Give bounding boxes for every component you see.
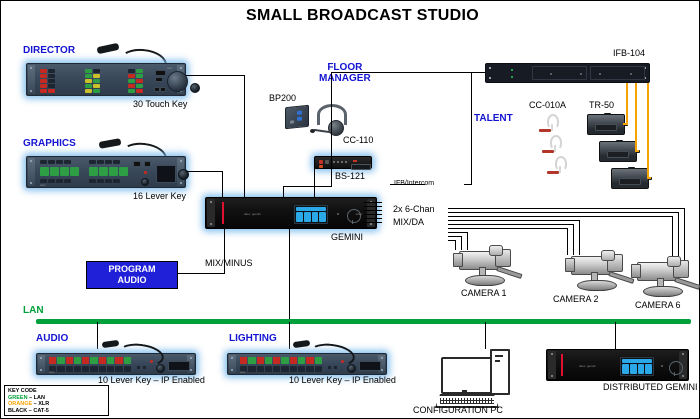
director-display	[155, 70, 166, 76]
page-title: SMALL BROADCAST STUDIO	[246, 7, 479, 25]
director-mic-head	[97, 43, 120, 54]
screw	[381, 357, 383, 359]
xlr-wire-tr50-2	[635, 83, 637, 151]
label-mix-da: MIX/DA	[393, 218, 424, 227]
wire-lan-to-lighting	[289, 322, 290, 349]
lan-bus	[36, 319, 691, 324]
key-code-desc-orange: – XLR	[34, 401, 50, 407]
pc-monitor	[441, 357, 493, 394]
label-bs121: BS-121	[335, 172, 365, 181]
screw	[682, 375, 684, 377]
key-code-color-green: GREEN	[8, 395, 28, 401]
gemini-port-stub	[364, 214, 382, 215]
label-gemini: GEMINI	[331, 233, 363, 242]
label-talent: TALENT	[474, 114, 513, 125]
screw	[551, 375, 553, 377]
lighting-key-display-strip	[240, 357, 322, 364]
key-code-row-orange: ORANGE – XLR	[8, 401, 105, 408]
lcd-titlebar	[622, 359, 652, 363]
label-director: DIRECTOR	[23, 46, 75, 57]
distributed-gemini-unit[interactable]: telex gemini	[546, 349, 689, 381]
ifb104-port	[599, 73, 601, 75]
wire-ifb-intercom-v2	[471, 72, 472, 185]
key-code-color-orange: ORANGE	[8, 401, 32, 407]
key-code-row-black: BLACK – CAT-5	[8, 408, 105, 415]
camera-trunk-1	[448, 208, 684, 209]
brand-mark: telex	[356, 212, 362, 216]
caption-graphics: 16 Lever Key	[133, 192, 186, 201]
ifb104-port	[630, 73, 632, 75]
screw	[231, 369, 233, 371]
camera-trunk-9	[448, 240, 455, 241]
bs121-vent	[333, 161, 349, 163]
gemini-led	[337, 213, 339, 215]
label-ifb-intercom: IFB/Intercom	[394, 180, 434, 187]
camera-trunk-2	[448, 212, 678, 213]
screw	[30, 160, 32, 162]
camera-1[interactable]	[453, 246, 525, 290]
bs121-red-button[interactable]	[319, 160, 323, 164]
screw	[30, 67, 32, 69]
screw	[210, 201, 212, 203]
label-camera1: CAMERA 1	[461, 289, 507, 298]
program-audio-line2: AUDIO	[118, 275, 147, 285]
ifb104-status-led	[511, 76, 513, 78]
label-audio: AUDIO	[36, 334, 68, 345]
lighting-control[interactable]	[328, 366, 331, 369]
graphics-panel[interactable]: telex	[26, 156, 186, 188]
screw	[30, 90, 32, 92]
lcd-softkeys[interactable]	[622, 364, 652, 374]
screw	[30, 182, 32, 184]
director-key-group-3[interactable]	[128, 69, 143, 93]
graphics-connector-panel	[156, 165, 176, 183]
key-code-color-black: BLACK	[8, 408, 27, 414]
pc-tower	[490, 349, 510, 395]
camera-trunk-4	[448, 220, 579, 221]
gemini-brand: telex gemini	[244, 212, 261, 216]
wire-lan-to-audio	[97, 322, 98, 349]
gemini-port-stub	[364, 218, 382, 219]
label-lighting: LIGHTING	[229, 334, 277, 345]
bs121-led	[353, 160, 357, 162]
bs121-display	[351, 164, 371, 170]
caption-lighting: 10 Lever Key – IP Enabled	[289, 376, 396, 385]
key-code-legend: KEY CODE GREEN – LAN ORANGE – XLR BLACK …	[4, 385, 109, 416]
xlr-wire-tr50-3	[647, 83, 649, 177]
camera-6[interactable]	[631, 257, 700, 301]
label-mix-minus: MIX/MINUS	[205, 259, 253, 268]
lighting-mic-head	[293, 340, 311, 348]
gemini-unit[interactable]: telex gemini telex	[205, 197, 377, 229]
gemini-lcd-softkeys[interactable]	[296, 212, 326, 222]
camera-trunk-5	[448, 224, 573, 225]
wire-camera6-c	[672, 216, 673, 261]
tr50-receiver-2	[599, 141, 637, 162]
gemini-port-stub	[364, 206, 382, 207]
label-lan: LAN	[23, 306, 44, 317]
audio-panel[interactable]: telex	[36, 353, 196, 375]
wire-director-to-gemini-h	[186, 75, 245, 76]
key-code-row-green: GREEN – LAN	[8, 395, 105, 402]
screw	[489, 67, 491, 69]
key-code-desc-black: – CAT-5	[29, 408, 49, 414]
wire-graphics-to-gemini-h	[186, 171, 223, 172]
graphics-indicator	[133, 161, 141, 167]
label-graphics: GRAPHICS	[23, 139, 76, 150]
graphics-key-group-1[interactable]	[40, 160, 71, 164]
director-headset-jack[interactable]	[190, 83, 200, 93]
label-ifb104: IFB-104	[613, 49, 645, 58]
wire-ifb-intercom-v1	[283, 186, 284, 197]
gemini-port-stub	[364, 202, 382, 203]
tr50-receiver-1	[587, 114, 625, 135]
screw	[40, 357, 42, 359]
xlr-wire-tr50-1	[626, 83, 628, 125]
audio-mic-head	[102, 340, 120, 348]
wire-camera6-b	[678, 212, 679, 261]
camera-trunk-7	[448, 232, 467, 233]
lighting-lever-keys[interactable]	[240, 366, 322, 372]
ifb104-channel-bay	[532, 66, 587, 80]
director-key-group-1[interactable]	[40, 69, 55, 93]
wire-mixminus-h	[176, 273, 225, 274]
screw	[190, 357, 192, 359]
jack-stem	[674, 372, 675, 376]
brand-mark: telex	[40, 184, 45, 187]
wire-bs121-to-gemini	[314, 163, 315, 197]
camera-2[interactable]	[565, 251, 637, 295]
ifb104-port	[580, 73, 582, 75]
screw	[180, 160, 182, 162]
label-floor-manager: FLOORMANAGER	[319, 63, 371, 84]
wire-mixminus-v	[224, 229, 225, 274]
program-audio-line1: PROGRAM	[109, 264, 156, 274]
lighting-display	[359, 361, 381, 371]
distributed-gemini-lcd[interactable]	[620, 357, 654, 376]
label-distributed-gemini: DISTRIBUTED GEMINI	[603, 383, 698, 392]
lighting-panel[interactable]: telex	[227, 353, 387, 375]
graphics-jack[interactable]	[141, 178, 149, 186]
bp200-beltpack[interactable]	[285, 105, 309, 130]
camera-trunk-3	[448, 216, 672, 217]
audio-display	[168, 361, 190, 371]
graphics-key-group-2[interactable]	[40, 179, 71, 183]
bs121-unit[interactable]	[314, 156, 372, 169]
brand-mark: telex	[49, 371, 54, 374]
director-key-group-2[interactable]	[85, 69, 100, 93]
gemini-port-stub	[364, 210, 382, 211]
graphics-mic-head	[99, 138, 122, 149]
graphics-display-group-1	[40, 167, 79, 176]
brand-mark: telex	[167, 67, 172, 70]
tr50-receiver-3	[611, 168, 649, 189]
graphics-key-group-4[interactable]	[89, 179, 120, 183]
gemini-lcd-display[interactable]	[294, 205, 328, 224]
ifb104-unit[interactable]	[485, 63, 650, 83]
audio-lever-keys[interactable]	[49, 366, 131, 372]
ifb104-status-led	[511, 69, 513, 71]
wire-lan-to-pc	[485, 322, 486, 349]
gemini-accent-stripe	[222, 202, 224, 224]
screw	[180, 182, 182, 184]
graphics-indicator	[144, 161, 151, 167]
xlr-wire-tr50-1b	[623, 123, 628, 125]
wire-graphics-to-gemini-v	[222, 171, 223, 197]
xlr-wire-tr50-3b	[647, 177, 651, 179]
label-cc010a: CC-010A	[529, 101, 566, 110]
label-six-chan: 2x 6-Chan	[393, 205, 435, 214]
key-code-heading: KEY CODE	[8, 388, 105, 395]
brand-mark: telex	[240, 371, 245, 374]
label-camera6: CAMERA 6	[635, 301, 681, 310]
label-configuration-pc: CONFIGURATION PC	[413, 406, 503, 415]
wire-ifb104-left-h	[331, 72, 485, 73]
diagram-canvas: SMALL BROADCAST STUDIO DIRECTOR	[0, 0, 700, 419]
wire-gemini-to-lan	[289, 229, 290, 328]
screw	[551, 353, 553, 355]
graphics-led	[144, 171, 147, 174]
wire-ifb-intercom-h1	[283, 186, 331, 187]
wire-ifb104-left-v	[331, 72, 332, 187]
screw	[370, 223, 372, 225]
accent-stripe	[561, 354, 563, 376]
label-cc110: CC-110	[343, 136, 373, 145]
bs121-button[interactable]	[325, 160, 329, 164]
audio-headset-jack[interactable]	[156, 364, 165, 373]
gemini-lcd-titlebar	[296, 207, 326, 211]
distributed-gemini-headset-jack[interactable]	[669, 361, 683, 375]
xlr-wire-tr50-2b	[635, 150, 639, 152]
camera-trunk-8	[448, 236, 461, 237]
screw	[231, 357, 233, 359]
director-panel[interactable]: telex	[26, 63, 186, 96]
ifb104-port	[550, 73, 552, 75]
cc110-mic-tip	[310, 129, 315, 133]
gemini-jack-stem	[352, 220, 353, 224]
director-indicator	[155, 77, 163, 82]
wire-lan-to-distributed-gemini	[615, 322, 616, 349]
screw	[180, 67, 182, 69]
bs121-indicator	[319, 165, 323, 168]
audio-control[interactable]	[137, 366, 140, 369]
director-speaker-dial[interactable]	[167, 71, 188, 92]
label-bp200: BP200	[269, 94, 296, 103]
lighting-headset-jack[interactable]	[347, 364, 356, 373]
wire-camera6-a	[684, 208, 685, 261]
screw	[210, 223, 212, 225]
camera-trunk-6	[448, 228, 567, 229]
caption-audio: 10 Lever Key – IP Enabled	[98, 376, 205, 385]
brand: telex gemini	[579, 364, 596, 368]
led	[661, 365, 663, 367]
label-tr50: TR-50	[589, 101, 614, 110]
screw	[40, 369, 42, 371]
key-code-desc-green: – LAN	[29, 395, 45, 401]
screw	[489, 77, 491, 79]
graphics-key-group-3[interactable]	[89, 160, 120, 164]
program-audio-box[interactable]: PROGRAM AUDIO	[86, 261, 178, 289]
screw	[190, 369, 192, 371]
gemini-port-stub	[364, 222, 382, 223]
director-indicator	[160, 87, 166, 92]
label-camera2: CAMERA 2	[553, 295, 599, 304]
screw	[682, 353, 684, 355]
wire-camera2-a	[579, 220, 580, 255]
wire-director-to-gemini-v	[244, 75, 245, 197]
screw	[381, 369, 383, 371]
audio-key-display-strip	[49, 357, 131, 364]
caption-director: 30 Touch Key	[133, 100, 187, 109]
graphics-display-group-2	[89, 167, 128, 176]
